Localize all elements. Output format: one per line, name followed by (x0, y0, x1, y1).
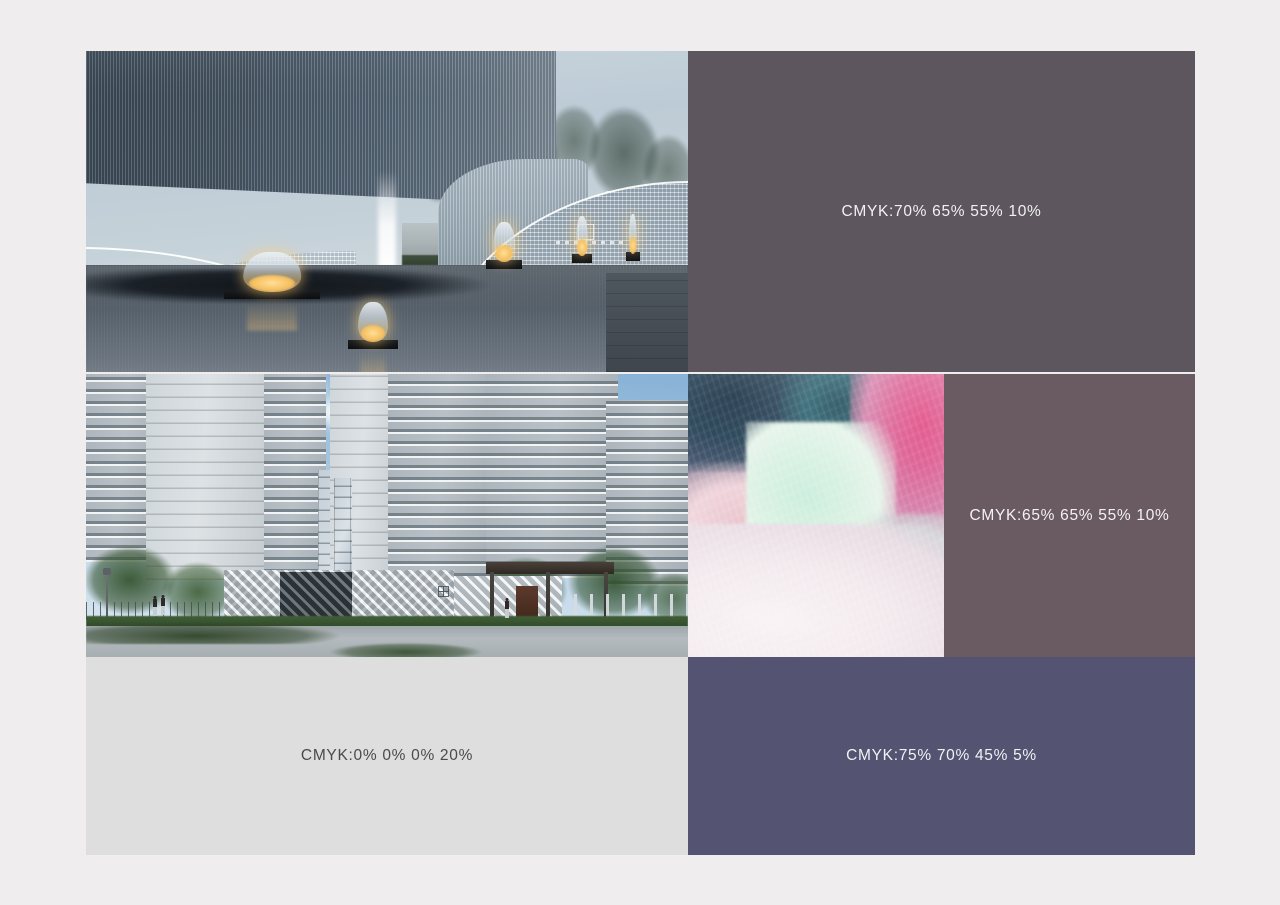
abstract-sheen (688, 374, 944, 657)
lantern-sculpture (626, 245, 640, 261)
stone-deck (606, 273, 688, 372)
lantern-glow (249, 275, 295, 291)
color-swatch-slate-blue-purple[interactable]: CMYK:75% 70% 45% 5% (688, 657, 1195, 855)
pedestrian-legs (161, 606, 165, 615)
wall-motif-square (438, 586, 449, 597)
architectural-render-arches[interactable] (86, 51, 688, 372)
color-swatch-mauve-taupe[interactable]: CMYK:65% 65% 55% 10% (944, 374, 1195, 657)
lantern-reflection (247, 302, 297, 331)
pedestrian (160, 595, 166, 618)
swatch-cmyk-label: CMYK:75% 70% 45% 5% (846, 747, 1037, 765)
lantern-sculpture (348, 301, 398, 349)
color-swatch-light-gray[interactable]: CMYK:0% 0% 0% 20% (86, 657, 688, 855)
wall-motif-row (556, 241, 628, 244)
pool-dark-band (86, 269, 556, 303)
lantern-reflection (360, 352, 386, 372)
lantern-glow (577, 239, 587, 255)
swatch-cmyk-label: CMYK:65% 65% 55% 10% (969, 507, 1169, 525)
lantern-sculpture (572, 241, 592, 263)
residential-towers-render[interactable] (86, 374, 688, 657)
abstract-fluid-artwork[interactable] (688, 374, 944, 657)
lamp-head (103, 568, 111, 575)
pedestrian-legs (153, 607, 157, 616)
foreground-shrubs (86, 622, 406, 644)
lantern-glow (361, 325, 385, 341)
color-swatch-warm-gray-purple[interactable]: CMYK:70% 65% 55% 10% (688, 51, 1195, 372)
gate-canopy (486, 562, 614, 574)
facade-light-slot (378, 171, 396, 271)
railing-fence (574, 594, 688, 618)
lantern-sculpture (486, 239, 522, 269)
foreground-shrubs (316, 642, 496, 657)
moodboard-canvas: CMYK:70% 65% 55% 10% (86, 51, 1195, 855)
pedestrian-legs (505, 609, 509, 618)
lantern-glow (630, 237, 637, 253)
swatch-cmyk-label: CMYK:0% 0% 0% 20% (301, 747, 473, 765)
lantern-sculpture (224, 231, 320, 299)
pedestrian (152, 596, 158, 618)
swatch-cmyk-label: CMYK:70% 65% 55% 10% (841, 203, 1041, 221)
pedestrian (504, 598, 510, 620)
